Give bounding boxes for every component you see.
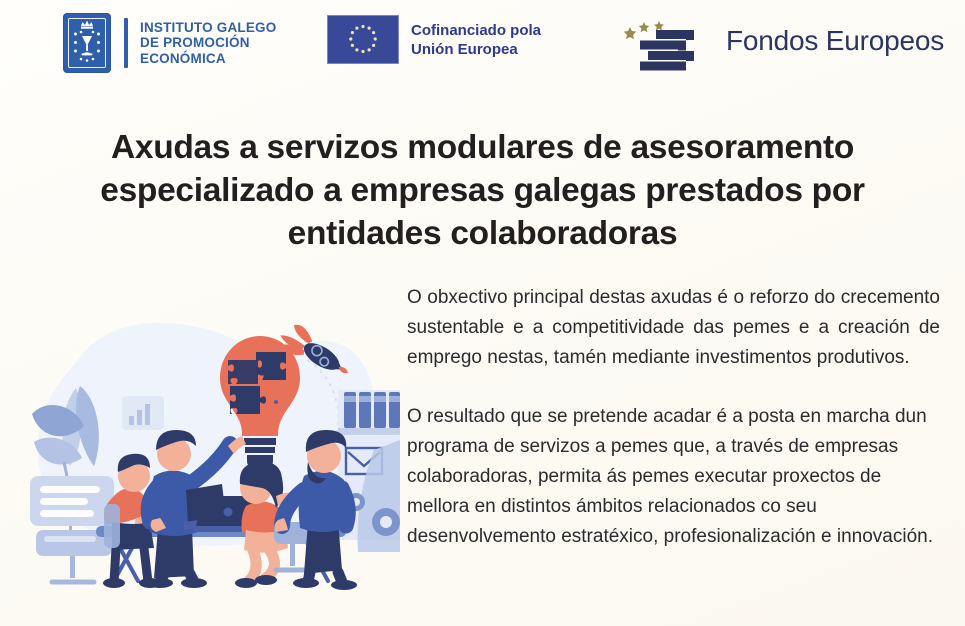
paragraph-1: O obxectivo principal destas axudas é o … xyxy=(407,283,940,373)
fondos-europeos-wordmark: Fondos Europeos xyxy=(726,26,944,56)
logo-strip: INSTITUTO GALEGO DE PROMOCIÓN ECONÓMICA xyxy=(0,0,965,88)
poster-page: INSTITUTO GALEGO DE PROMOCIÓN ECONÓMICA xyxy=(0,0,965,626)
page-title: Axudas a servizos modulares de asesorame… xyxy=(30,126,935,255)
body-text: O obxectivo principal destas axudas é o … xyxy=(407,283,940,552)
igape-line-2: DE PROMOCIÓN xyxy=(140,35,276,51)
logo-divider xyxy=(124,18,128,68)
logo-instituto-galego-de-promocion-economica: INSTITUTO GALEGO DE PROMOCIÓN ECONÓMICA xyxy=(64,14,276,72)
eu-line-2: Unión Europea xyxy=(411,40,541,59)
logo-cofinanciado-union-europea: Cofinanciado pola Unión Europea xyxy=(328,16,541,63)
igape-line-3: ECONÓMICA xyxy=(140,51,276,67)
eu-line-1: Cofinanciado pola xyxy=(411,21,541,40)
chair-middle-left xyxy=(104,504,120,548)
european-union-flag-icon xyxy=(328,16,398,63)
igape-wordmark: INSTITUTO GALEGO DE PROMOCIÓN ECONÓMICA xyxy=(140,20,276,67)
fondos-europeos-icon xyxy=(618,10,712,72)
title-line-1: Axudas a servizos modulares de asesorame… xyxy=(111,129,854,166)
igape-line-1: INSTITUTO GALEGO xyxy=(140,20,276,36)
galicia-coat-of-arms-icon xyxy=(64,14,110,72)
team-brainstorming-illustration xyxy=(8,290,400,590)
title-line-3: entidades colaboradoras xyxy=(288,215,678,252)
logo-fondos-europeos: Fondos Europeos xyxy=(618,10,944,72)
eu-wordmark: Cofinanciado pola Unión Europea xyxy=(411,21,541,59)
paragraph-2: O resultado que se pretende acadar é a p… xyxy=(407,402,940,552)
wall-chart xyxy=(122,396,164,430)
title-line-2: especializado a empresas galegas prestad… xyxy=(100,172,865,209)
